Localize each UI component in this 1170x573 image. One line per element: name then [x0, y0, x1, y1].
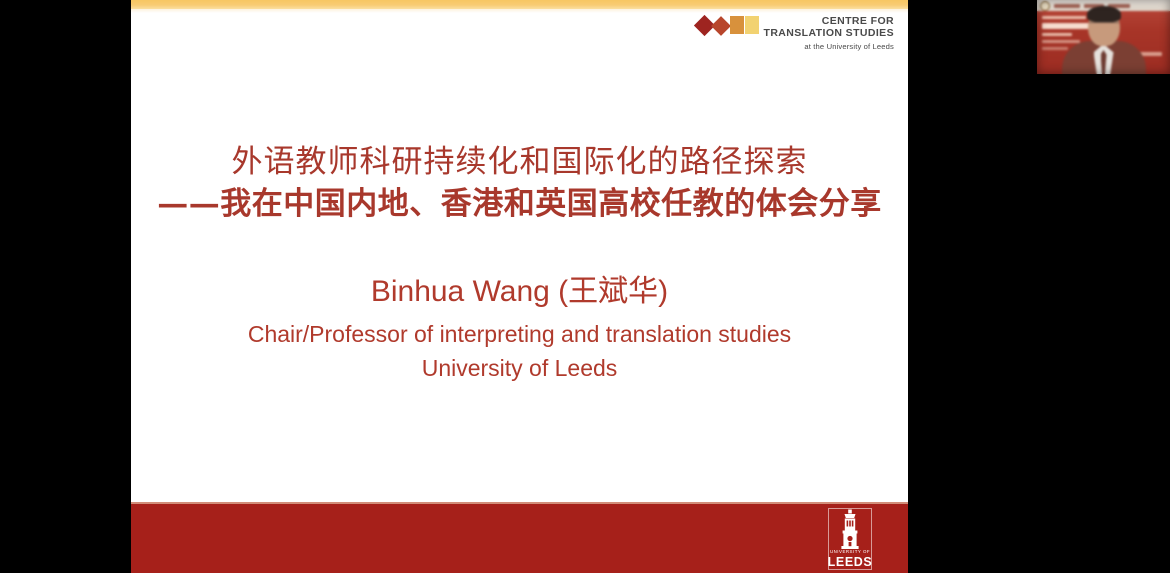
slide-top-cream-sliver — [131, 9, 908, 13]
speaker-info-block: Binhua Wang (王斌华) Chair/Professor of int… — [131, 272, 908, 384]
speaker-video-inset[interactable] — [1037, 0, 1170, 74]
backdrop-header-text-1 — [1054, 4, 1080, 8]
cts-logo-marks — [697, 14, 759, 38]
slide-title-subtitle: ——我在中国内地、香港和英国高校任教的体会分享 — [131, 185, 908, 225]
red-diamond-icon — [711, 16, 731, 36]
yellow-square-icon — [745, 16, 759, 34]
centre-for-translation-studies-logo: CENTRE FOR TRANSLATION STUDIES at the Un… — [697, 14, 895, 52]
video-player-canvas: CENTRE FOR TRANSLATION STUDIES at the Un… — [0, 0, 1170, 573]
slide-top-gold-bar — [131, 0, 908, 9]
crest-university-label: UNIVERSITY OF — [830, 550, 870, 554]
speaker-role: Chair/Professor of interpreting and tran… — [131, 319, 908, 349]
speaker-affiliation: University of Leeds — [131, 353, 908, 383]
presentation-slide: CENTRE FOR TRANSLATION STUDIES at the Un… — [131, 0, 908, 573]
speaker-glasses-icon — [1089, 22, 1119, 30]
cts-logo-line-2: TRANSLATION STUDIES — [764, 27, 895, 39]
speaker-figure — [1061, 8, 1147, 74]
cts-logo-line-1: CENTRE FOR — [764, 15, 895, 27]
slide-title-main: 外语教师科研持续化和国际化的路径探索 — [131, 143, 908, 183]
crest-leeds-label: LEEDS — [828, 556, 873, 569]
speaker-hair — [1087, 6, 1121, 22]
speaker-name: Binhua Wang (王斌华) — [131, 272, 908, 311]
slide-bottom-red-band: UNIVERSITY OF LEEDS — [131, 502, 908, 573]
cts-logo-line-3: at the University of Leeds — [764, 43, 895, 52]
parkinson-tower-icon — [835, 509, 865, 549]
cts-logo-text: CENTRE FOR TRANSLATION STUDIES at the Un… — [764, 14, 895, 52]
red-band-top-rule — [131, 502, 908, 504]
slide-title-block: 外语教师科研持续化和国际化的路径探索 ——我在中国内地、香港和英国高校任教的体会… — [131, 143, 908, 224]
university-seal-icon — [1040, 1, 1050, 11]
orange-square-icon — [730, 16, 744, 34]
university-of-leeds-crest: UNIVERSITY OF LEEDS — [828, 508, 872, 570]
